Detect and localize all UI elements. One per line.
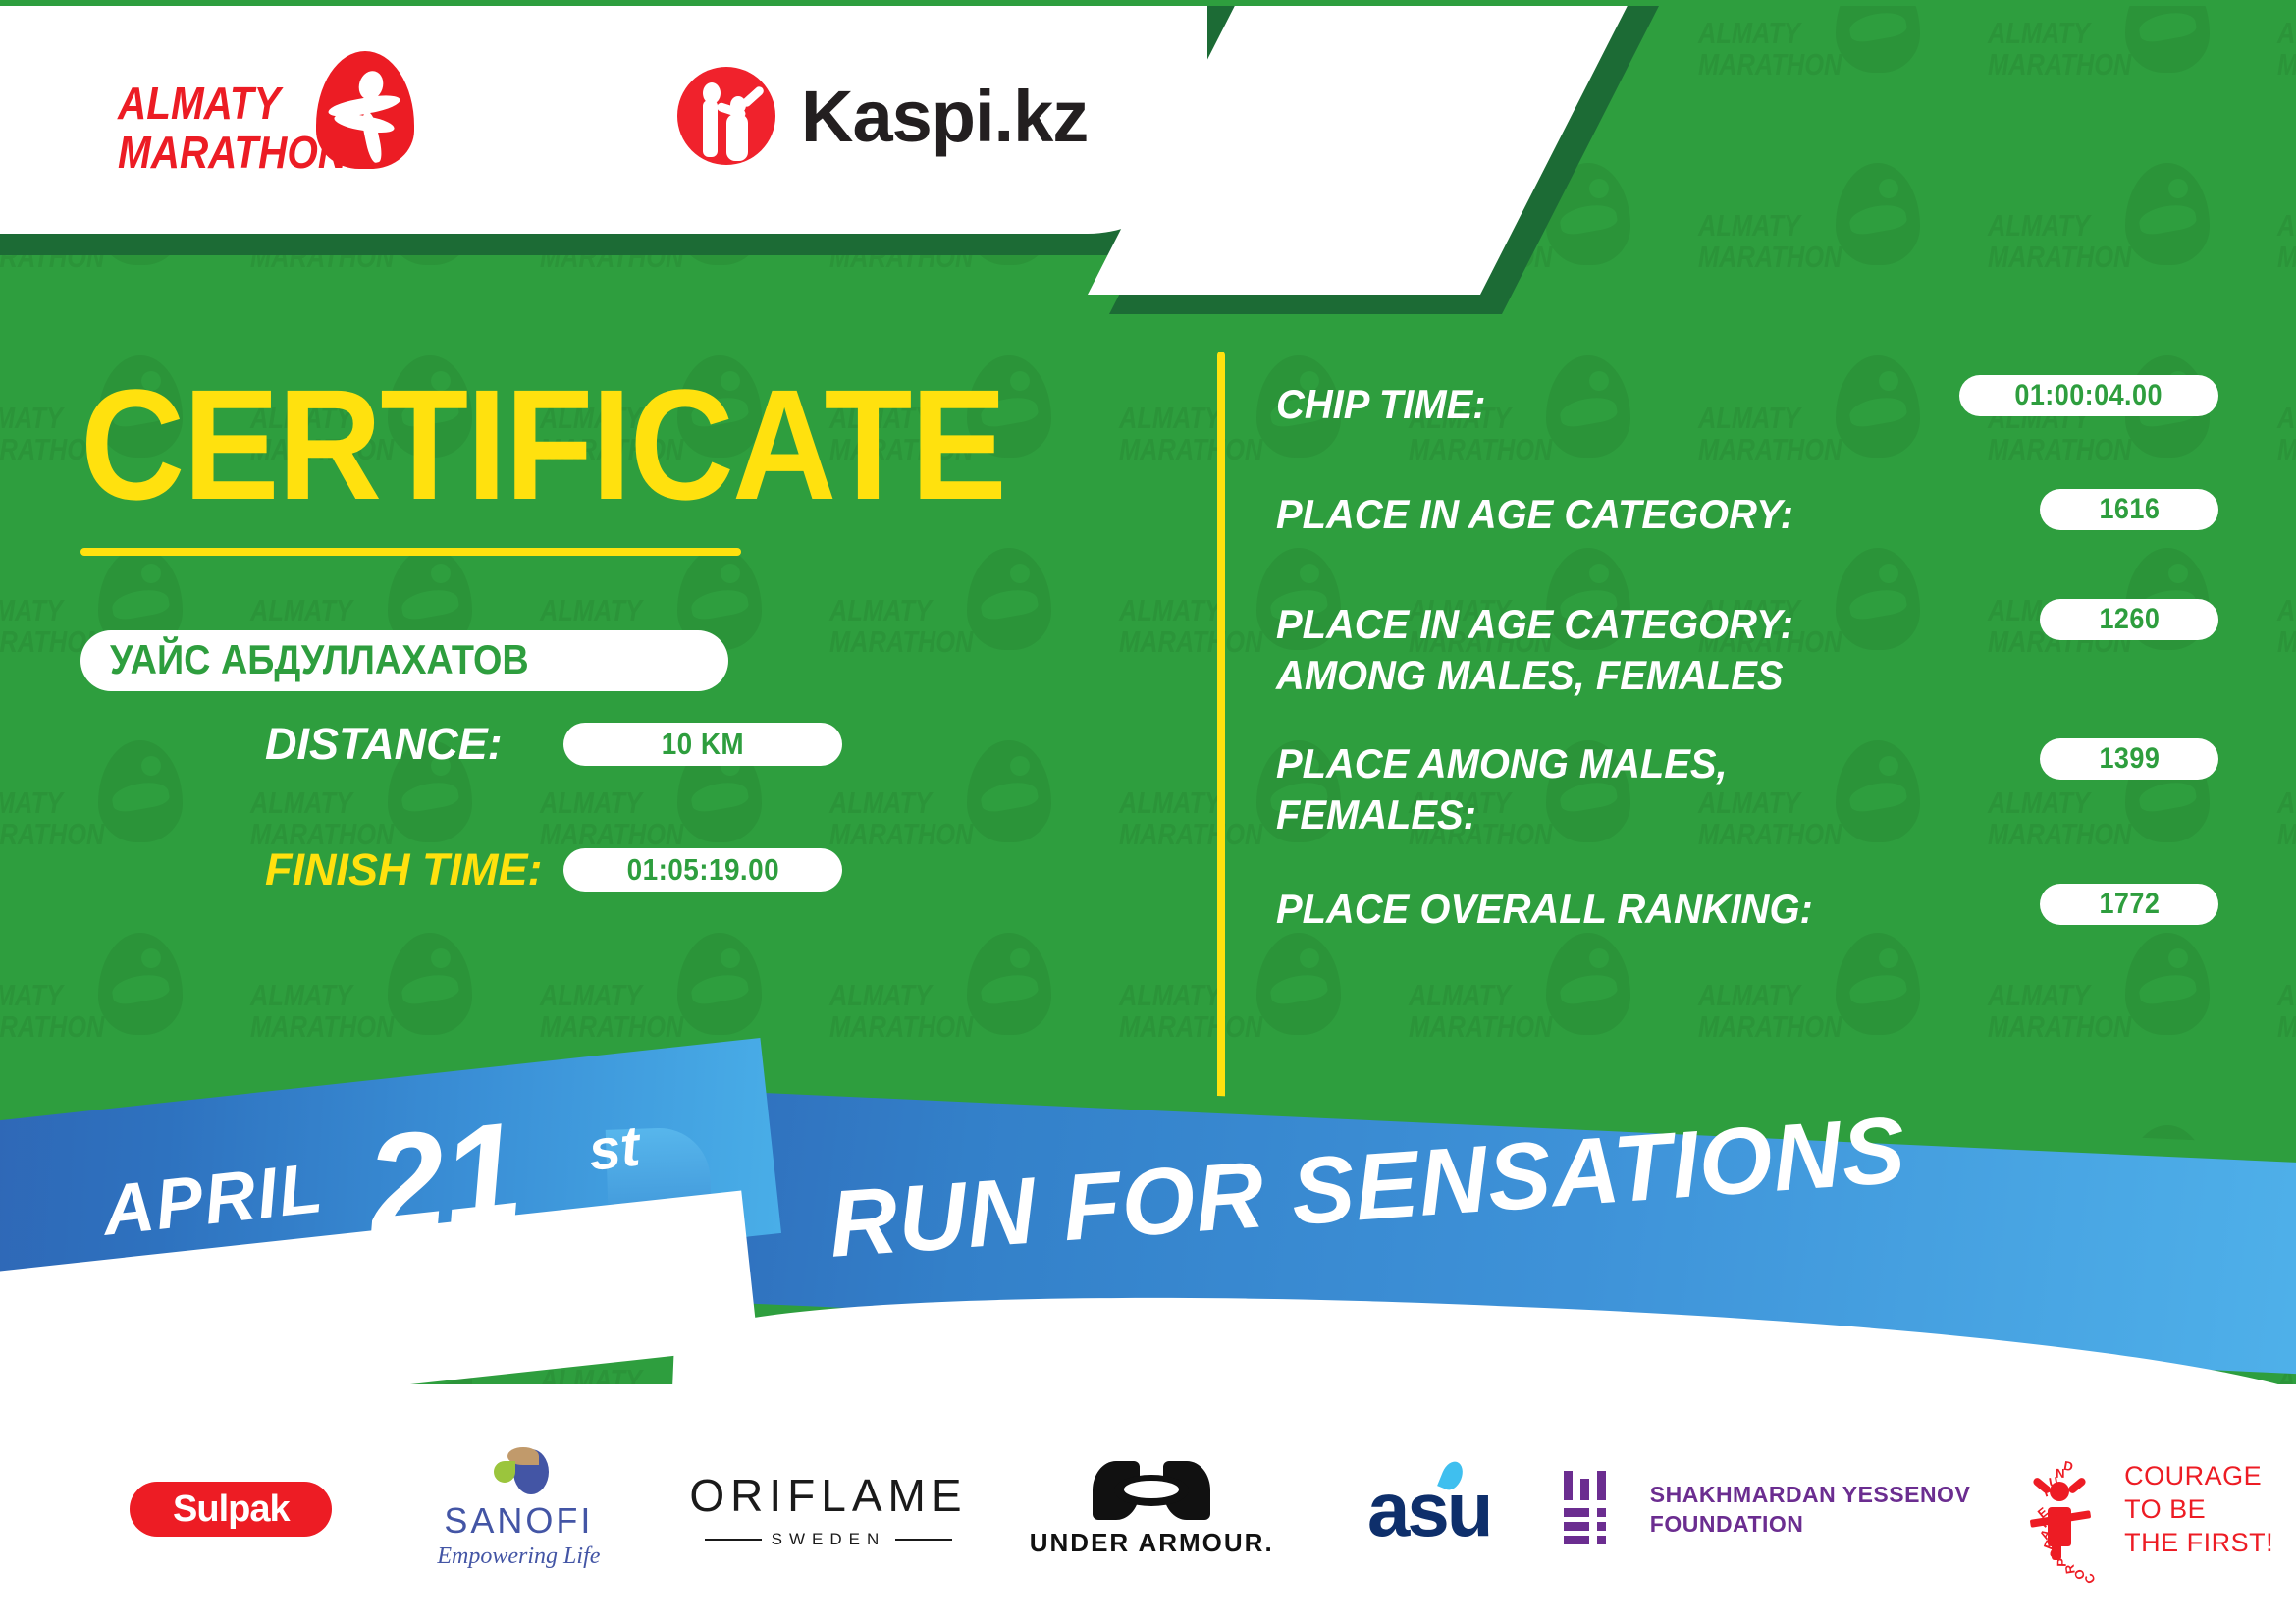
kaspi-wordmark: Kaspi.kz <box>801 75 1088 158</box>
courage-fund-icon: CORPORATE FUND <box>2004 1458 2110 1560</box>
finish-time-label: FINISH TIME: <box>265 844 542 895</box>
stat-value: 1616 <box>2099 493 2160 526</box>
stat-row: PLACE IN AGE CATEGORY:AMONG MALES, FEMAL… <box>1276 597 2218 701</box>
runner-teardrop-icon <box>316 51 414 169</box>
courage-wordmark: COURAGETO BETHE FIRST! <box>2124 1459 2273 1559</box>
event-ribbon: APRIL 21 st RUN FOR SENSATIONS <box>0 1085 2296 1409</box>
sponsor-logo-sulpak: Sulpak <box>88 1482 374 1537</box>
watermark-runner-icon <box>1836 0 1920 73</box>
watermark-runner-icon <box>2125 163 2210 265</box>
watermark-line2: MARATHON <box>1698 1009 1842 1045</box>
sanofi-tagline: Empowering Life <box>437 1543 600 1570</box>
stat-value: 1399 <box>2099 742 2160 776</box>
oriflame-subline: SWEDEN <box>705 1530 953 1549</box>
ua-center-cutout <box>1124 1481 1179 1498</box>
watermark-line2: MARATHON <box>1988 47 2131 82</box>
stat-label: PLACE IN AGE CATEGORY:AMONG MALES, FEMAL… <box>1276 597 1793 701</box>
yessenov-bar <box>1564 1522 1589 1531</box>
watermark-line2: MARATHON <box>2277 47 2296 82</box>
stat-label-line1: PLACE AMONG MALES, <box>1276 740 1728 786</box>
almaty-marathon-wordmark: ALMATYMARATHON <box>118 79 347 177</box>
ribbon-day: 21 <box>359 1091 527 1268</box>
sanofi-bird-icon <box>488 1449 549 1496</box>
oriflame-rule-right <box>895 1539 952 1541</box>
watermark-line2: MARATHON <box>1409 1009 1552 1045</box>
courage-arm-left <box>2032 1477 2052 1495</box>
finish-time-row: FINISH TIME: 01:05:19.00 <box>265 844 842 895</box>
stat-value-pill: 1616 <box>2040 489 2218 530</box>
yessenov-line2: FOUNDATION <box>1650 1511 1804 1537</box>
stat-value-pill: 01:00:04.00 <box>1959 375 2218 416</box>
sponsor-logo-courage-fund: CORPORATE FUND COURAGETO BETHE FIRST! <box>1982 1458 2296 1560</box>
stat-label: CHIP TIME: <box>1276 373 1486 430</box>
watermark-tile: ALMATYMARATHON <box>2277 0 2296 118</box>
sponsor-logo-asu: asu <box>1310 1465 1548 1554</box>
stat-label-line2: AMONG MALES, FEMALES <box>1276 652 1783 698</box>
yessenov-bar <box>1564 1536 1589 1544</box>
watermark-tile: ALMATYMARATHON <box>1698 0 1924 118</box>
sponsor-logo-sanofi: SANOFI Empowering Life <box>386 1449 652 1570</box>
stat-label-line2: FEMALES: <box>1276 791 1476 838</box>
watermark-line1: ALMATY <box>1409 978 1511 1013</box>
oriflame-sweden-text: SWEDEN <box>772 1530 886 1549</box>
kaspi-head-2 <box>730 96 746 114</box>
under-armour-wordmark: UNDER ARMOUR. <box>1030 1528 1274 1558</box>
sulpak-wordmark: Sulpak <box>173 1489 290 1531</box>
watermark-runner-icon <box>2125 0 2210 73</box>
stat-row: PLACE OVERALL RANKING: 1772 <box>1276 882 2218 935</box>
watermark-line1: ALMATY <box>1698 978 1800 1013</box>
distance-label: DISTANCE: <box>265 719 503 770</box>
courage-arm-right <box>2067 1477 2087 1495</box>
watermark-tile: ALMATYMARATHON <box>2277 933 2296 1080</box>
courage-head <box>2050 1482 2069 1501</box>
stat-label: PLACE OVERALL RANKING: <box>1276 882 1813 935</box>
stat-label: PLACE AMONG MALES,FEMALES: <box>1276 736 1728 840</box>
stat-row: PLACE AMONG MALES,FEMALES: 1399 <box>1276 736 2218 840</box>
watermark-line1: ALMATY <box>2277 785 2296 821</box>
stat-value: 1260 <box>2099 603 2160 636</box>
watermark-line1: ALMATY <box>1988 978 2090 1013</box>
watermark-line1: ALMATY <box>1698 208 1800 244</box>
certificate-page: ALMATYMARATHONALMATYMARATHONALMATYMARATH… <box>0 0 2296 1624</box>
yessenov-wordmark: SHAKHMARDAN YESSENOVFOUNDATION <box>1650 1480 1971 1539</box>
almaty-line: ALMATY <box>118 78 281 129</box>
under-armour-icon <box>1093 1461 1210 1520</box>
watermark-line1: ALMATY <box>2277 593 2296 628</box>
watermark-tile: ALMATYMARATHON <box>2277 548 2296 695</box>
finish-time-value-pill: 01:05:19.00 <box>563 848 842 892</box>
finish-time-value: 01:05:19.00 <box>627 852 779 888</box>
watermark-line1: ALMATY <box>1698 16 1800 51</box>
watermark-tile: ALMATYMARATHON <box>2277 163 2296 310</box>
stat-row: PLACE IN AGE CATEGORY: 1616 <box>1276 487 2218 540</box>
distance-value-pill: 10 KM <box>563 723 842 766</box>
sanofi-shape-green <box>494 1461 515 1483</box>
courage-line3: THE FIRST! <box>2124 1528 2273 1557</box>
stats-panel: CHIP TIME: 01:00:04.00 PLACE IN AGE CATE… <box>1276 373 2218 968</box>
courage-leg <box>2052 1539 2061 1560</box>
yessenov-bar <box>1564 1471 1573 1500</box>
yessenov-bar <box>1580 1479 1589 1500</box>
sulpak-badge: Sulpak <box>130 1482 332 1537</box>
marathon-line: MARATHON <box>118 127 347 178</box>
watermark-line1: ALMATY <box>2277 401 2296 436</box>
watermark-tile: ALMATYMARATHON <box>2277 355 2296 503</box>
stat-value-pill: 1399 <box>2040 738 2218 780</box>
stat-row: CHIP TIME: 01:00:04.00 <box>1276 373 2218 430</box>
almaty-marathon-logo: ALMATYMARATHON <box>118 61 442 184</box>
watermark-runner-icon <box>1836 163 1920 265</box>
stat-value: 01:00:04.00 <box>2015 379 2163 412</box>
asu-wordmark: asu <box>1367 1465 1490 1554</box>
watermark-line1: ALMATY <box>2277 978 2296 1013</box>
sponsor-logo-under-armour: UNDER ARMOUR. <box>1009 1461 1295 1558</box>
courage-line1: COURAGE <box>2124 1461 2262 1490</box>
kaspi-logo: Kaspi.kz <box>677 67 1088 165</box>
courage-runner-figure <box>2034 1478 2089 1558</box>
watermark-line1: ALMATY <box>2277 16 2296 51</box>
watermark-line1: ALMATY <box>1988 16 2090 51</box>
ribbon-ordinal: st <box>585 1113 643 1184</box>
yessenov-bar <box>1597 1522 1606 1531</box>
oriflame-rule-left <box>705 1539 762 1541</box>
distance-row: DISTANCE: 10 KM <box>265 719 842 770</box>
certificate-left-column: CERTIFICATE УАЙС АБДУЛЛАХАТОВ DISTANCE: … <box>0 324 1158 1090</box>
participant-name: УАЙС АБДУЛЛАХАТОВ <box>110 636 529 683</box>
watermark-line2: MARATHON <box>1988 240 2131 275</box>
stat-value-pill: 1260 <box>2040 599 2218 640</box>
vertical-divider <box>1217 352 1225 1106</box>
sanofi-wordmark: SANOFI <box>444 1500 593 1542</box>
watermark-tile: ALMATYMARATHON <box>1988 0 2214 118</box>
top-green-strip <box>0 0 2296 6</box>
courage-line2: TO BE <box>2124 1494 2206 1524</box>
watermark-line2: MARATHON <box>2277 624 2296 660</box>
yessenov-line1: SHAKHMARDAN YESSENOV <box>1650 1482 1971 1507</box>
watermark-line2: MARATHON <box>2277 240 2296 275</box>
sponsor-logo-oriflame: ORIFLAME SWEDEN <box>671 1469 986 1549</box>
watermark-line2: MARATHON <box>1698 47 1842 82</box>
sponsor-logo-yessenov-foundation: SHAKHMARDAN YESSENOVFOUNDATION <box>1558 1471 1976 1547</box>
oriflame-wordmark: ORIFLAME <box>689 1469 967 1522</box>
kaspi-people-icon <box>677 67 775 165</box>
yessenov-bar <box>1597 1508 1606 1517</box>
title-underline <box>80 548 741 556</box>
watermark-tile: ALMATYMARATHON <box>1698 163 1924 310</box>
watermark-tile: ALMATYMARATHON <box>2277 740 2296 888</box>
watermark-tile: ALMATYMARATHON <box>1988 163 2214 310</box>
watermark-line2: MARATHON <box>1988 1009 2131 1045</box>
watermark-line2: MARATHON <box>2277 432 2296 467</box>
yessenov-bar <box>1597 1536 1606 1544</box>
page-title: CERTIFICATE <box>80 371 1005 518</box>
kaspi-body-2 <box>726 114 748 161</box>
watermark-line1: ALMATY <box>1988 208 2090 244</box>
distance-value: 10 KM <box>661 727 743 762</box>
stat-label-line1: PLACE IN AGE CATEGORY: <box>1276 601 1793 647</box>
watermark-line2: MARATHON <box>2277 817 2296 852</box>
watermark-line1: ALMATY <box>2277 208 2296 244</box>
corporate-fund-char: D <box>2062 1458 2074 1474</box>
stat-value: 1772 <box>2099 888 2160 921</box>
sponsor-bar: Sulpak SANOFI Empowering Life ORIFLAME S… <box>0 1394 2296 1624</box>
watermark-line2: MARATHON <box>2277 1009 2296 1045</box>
kaspi-body-1 <box>703 100 718 157</box>
yessenov-bars-icon <box>1564 1471 1629 1547</box>
stat-label: PLACE IN AGE CATEGORY: <box>1276 487 1793 540</box>
stat-value-pill: 1772 <box>2040 884 2218 925</box>
yessenov-bar <box>1597 1471 1606 1500</box>
watermark-line2: MARATHON <box>1698 240 1842 275</box>
asu-logo-wrap: asu <box>1367 1465 1490 1554</box>
yessenov-bar <box>1564 1508 1589 1517</box>
